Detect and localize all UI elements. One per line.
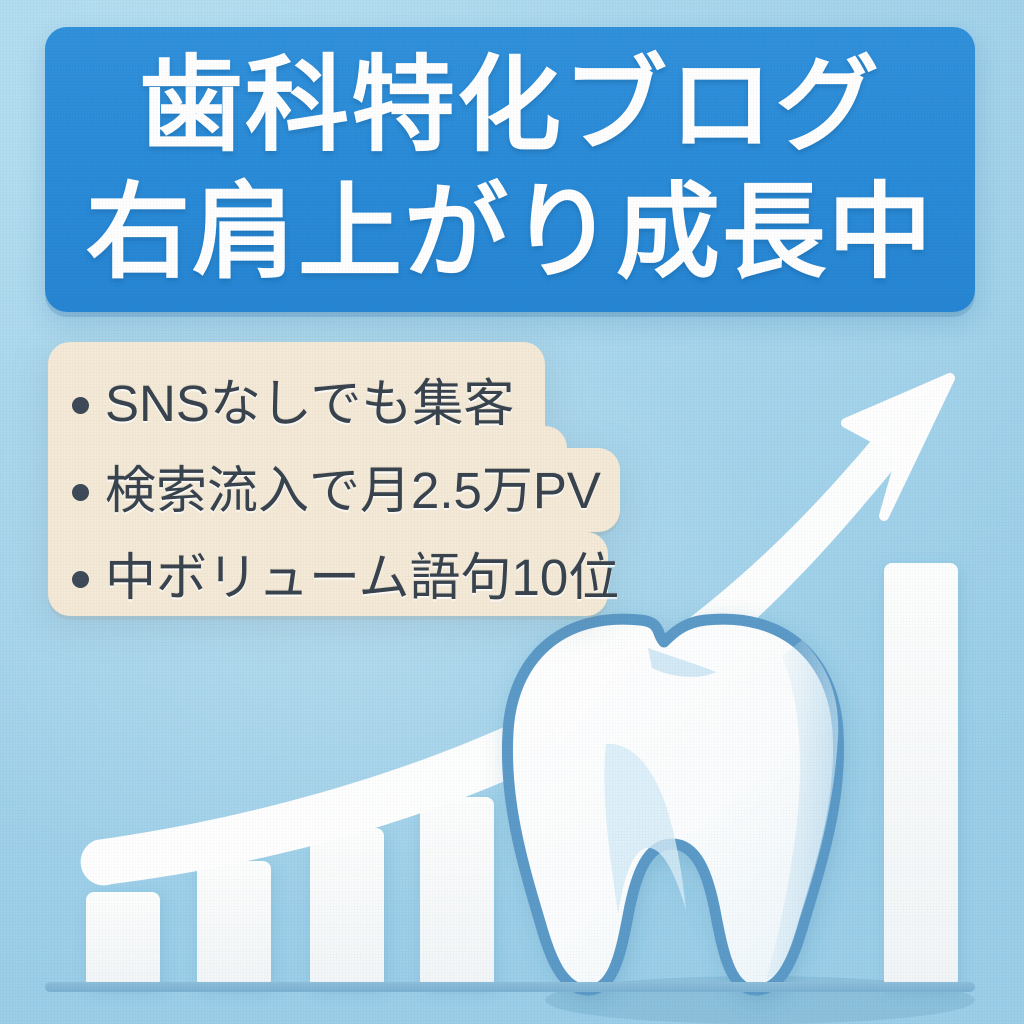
bar-1	[86, 892, 160, 988]
bar-5	[884, 563, 958, 988]
bar-3	[310, 828, 384, 988]
banner-title-line-1: 歯科特化ブログ	[139, 45, 881, 168]
tooth-icon	[507, 619, 838, 990]
bar-2	[197, 861, 271, 988]
banner-title-line-2: 右肩上がり成長中	[86, 172, 934, 295]
bar-4	[420, 797, 494, 988]
chart-baseline	[45, 982, 975, 992]
header-banner: 歯科特化ブログ 右肩上がり成長中	[45, 27, 975, 312]
poster-canvas: 歯科特化ブログ 右肩上がり成長中 SNSなしでも集客 検索流入で月2.5万PV …	[0, 0, 1024, 1024]
